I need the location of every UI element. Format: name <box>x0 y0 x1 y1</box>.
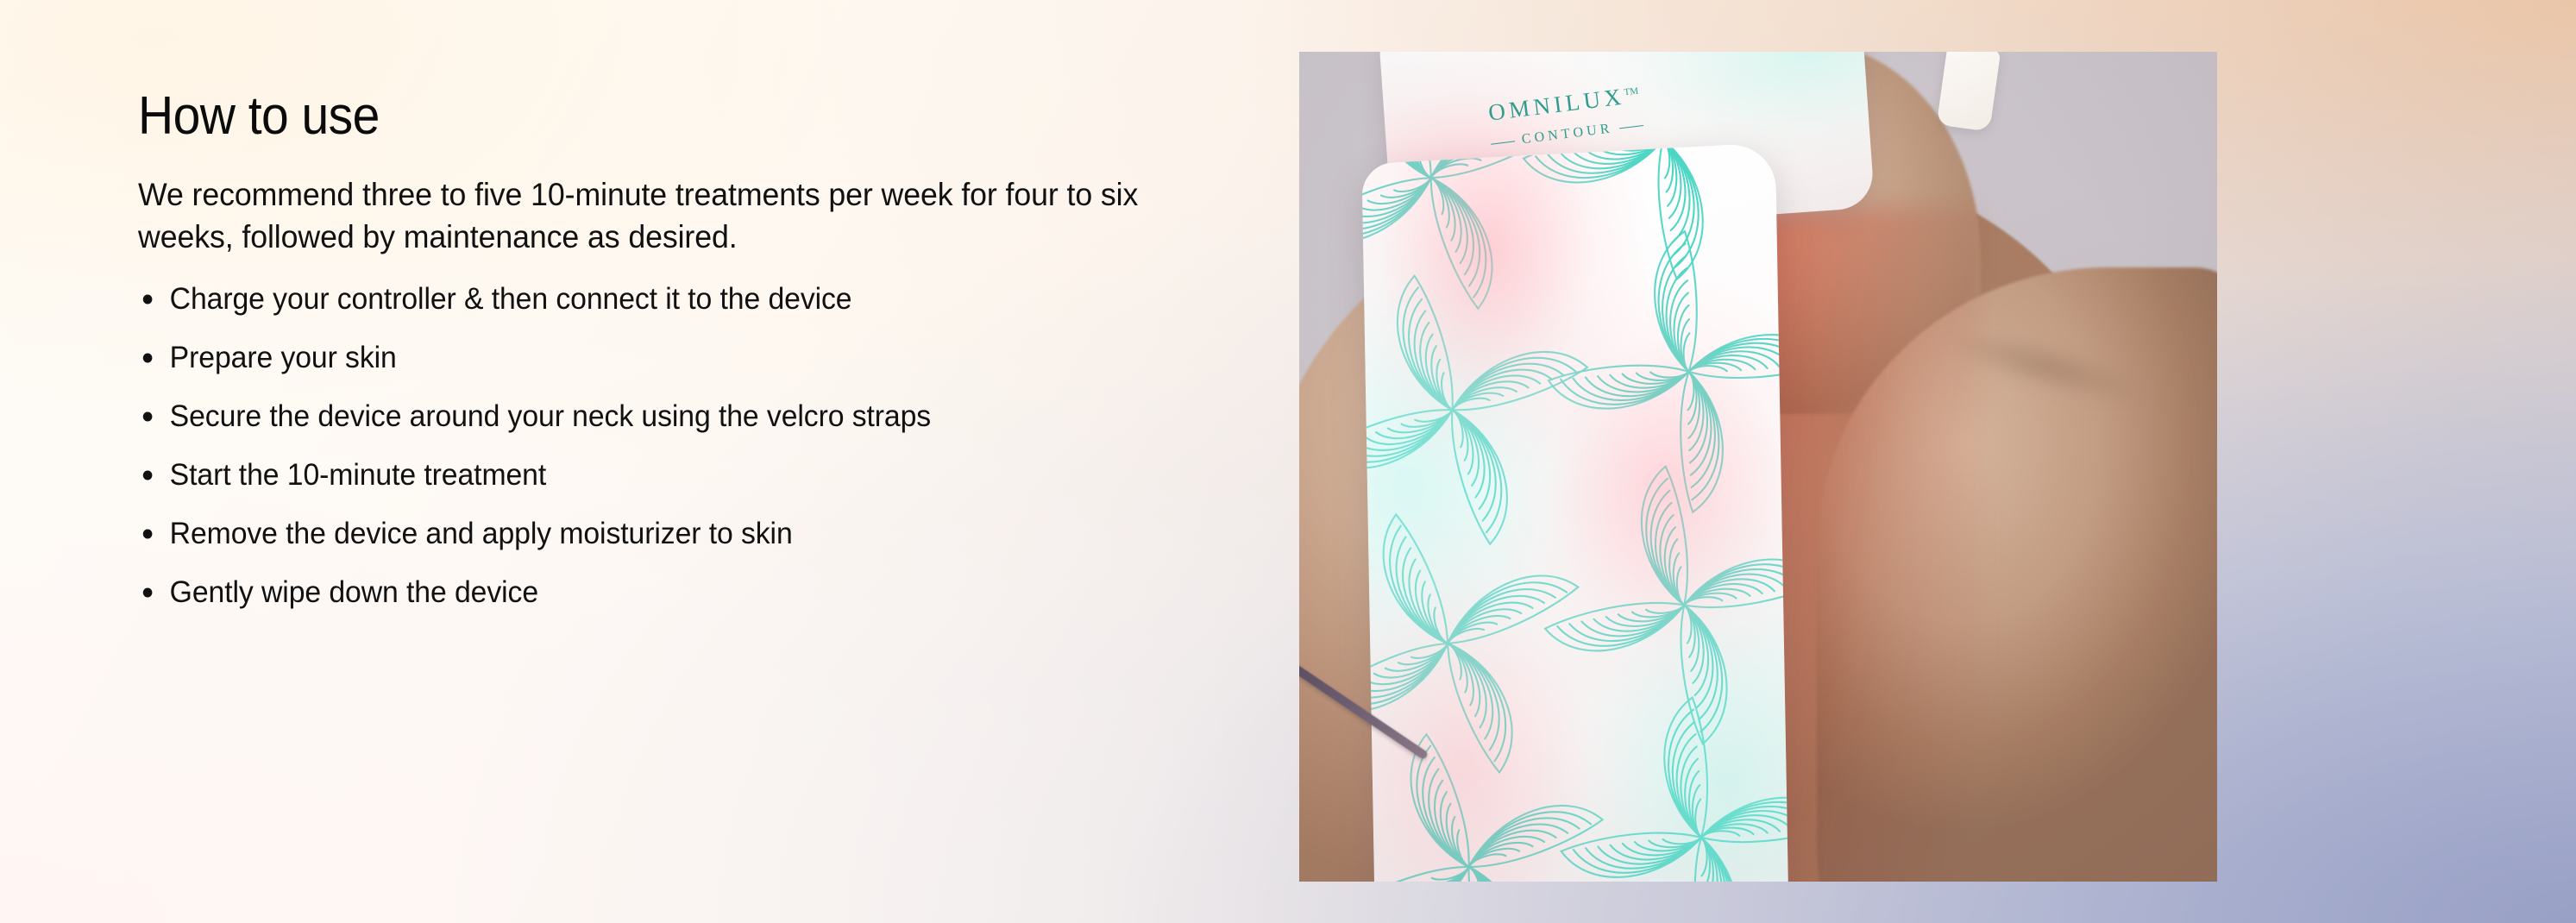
bullet-icon <box>143 411 153 421</box>
bullet-icon <box>143 529 153 538</box>
product-image: OMNILUXTM CONTOUR <box>1299 52 2217 882</box>
list-item: Gently wipe down the device <box>138 575 1162 611</box>
list-item: Prepare your skin <box>138 340 1162 376</box>
list-item: Secure the device around your neck using… <box>138 399 1162 435</box>
how-to-use-section: How to use We recommend three to five 10… <box>138 90 1165 611</box>
trademark-icon: TM <box>1624 85 1639 97</box>
petal-pattern-svg <box>1361 142 1788 882</box>
page-root: How to use We recommend three to five 10… <box>0 0 2576 923</box>
list-item: Start the 10-minute treatment <box>138 457 1162 493</box>
list-item-label: Gently wipe down the device <box>170 575 538 609</box>
bullet-icon <box>143 470 153 480</box>
bullet-icon <box>143 587 153 597</box>
list-item-label: Remove the device and apply moisturizer … <box>170 517 793 550</box>
bullet-icon <box>143 294 153 304</box>
logo-rule-left <box>1491 141 1515 144</box>
list-item-label: Start the 10-minute treatment <box>170 458 546 492</box>
list-item-label: Secure the device around your neck using… <box>170 399 931 433</box>
list-item-label: Charge your controller & then connect it… <box>170 282 852 316</box>
list-item: Remove the device and apply moisturizer … <box>138 516 1162 552</box>
device-led-panel <box>1361 142 1788 882</box>
steps-list: Charge your controller & then connect it… <box>138 281 1162 611</box>
list-item: Charge your controller & then connect it… <box>138 281 1162 317</box>
page-title: How to use <box>138 90 1083 143</box>
bullet-icon <box>143 353 153 362</box>
intro-paragraph: We recommend three to five 10-minute tre… <box>138 174 1162 259</box>
device-petal-pattern <box>1361 142 1788 882</box>
logo-rule-right <box>1620 125 1644 129</box>
list-item-label: Prepare your skin <box>170 341 397 374</box>
